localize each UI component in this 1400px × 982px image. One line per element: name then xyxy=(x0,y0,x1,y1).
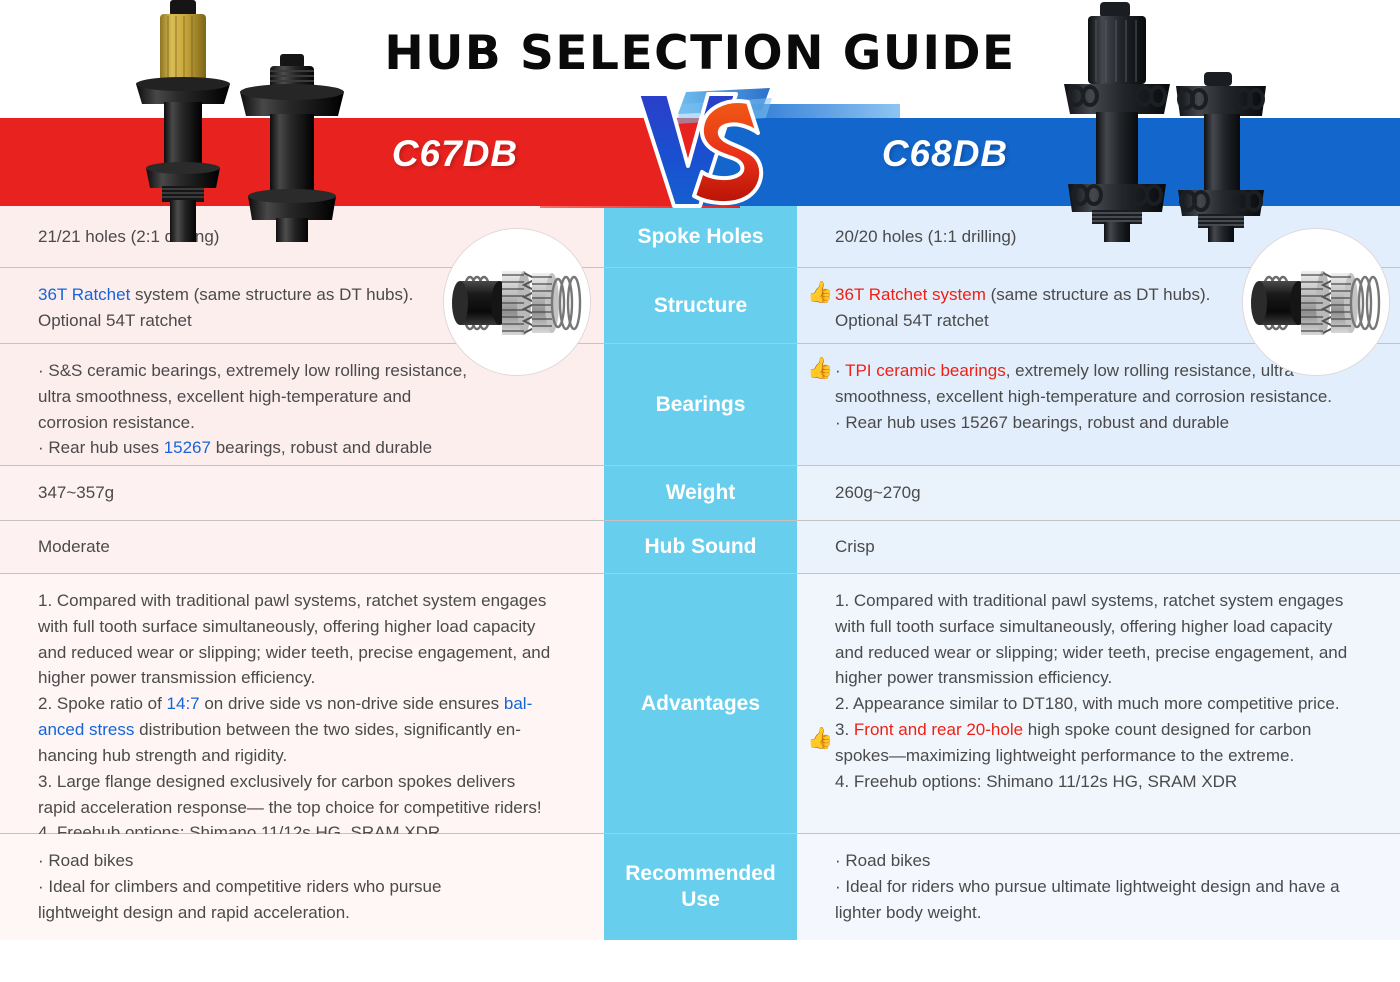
left-cell-text: · Road bikes · Ideal for climbers and co… xyxy=(38,848,582,925)
ratchet-exploded-view-icon-right xyxy=(1242,228,1390,376)
plain-text: bearings, robust and durable xyxy=(211,438,432,457)
spec-label: Hub Sound xyxy=(604,521,797,573)
plain-text: 1. Compared with traditional pawl system… xyxy=(835,591,1347,739)
left-spec-cell: 347~357g xyxy=(0,466,604,520)
highlight-red: 36T Ratchet system xyxy=(835,285,986,304)
table-row: · S&S ceramic bearings, extremely low ro… xyxy=(0,344,1400,466)
ratchet-exploded-view-icon-left xyxy=(443,228,591,376)
right-cell-text: Crisp xyxy=(835,534,875,560)
table-row: 36T Ratchet system (same structure as DT… xyxy=(0,268,1400,344)
left-cell-text: 347~357g xyxy=(38,480,114,506)
table-row: 347~357gWeight260g~270g xyxy=(0,466,1400,521)
highlight-blue: 14:7 xyxy=(167,694,200,713)
page-title: HUB SELECTION GUIDE xyxy=(0,26,1400,81)
highlight-red: TPI ceramic bearings xyxy=(845,361,1006,380)
highlight-red: Front and rear 20-hole xyxy=(854,720,1023,739)
thumbs-up-icon: 👍 xyxy=(807,280,833,306)
plain-text: on drive side vs non-drive side ensures xyxy=(200,694,504,713)
spec-label: Structure xyxy=(604,268,797,343)
vs-logo-icon xyxy=(620,88,800,216)
left-spec-cell: 1. Compared with traditional pawl system… xyxy=(0,574,604,833)
model-name-right: C68DB xyxy=(820,133,1070,175)
right-spec-cell: 260g~270g xyxy=(797,466,1400,520)
right-cell-text: 1. Compared with traditional pawl system… xyxy=(835,588,1382,795)
table-row: 1. Compared with traditional pawl system… xyxy=(0,574,1400,834)
left-cell-text: 1. Compared with traditional pawl system… xyxy=(38,588,582,846)
right-cell-text: 20/20 holes (1:1 drilling) xyxy=(835,224,1016,250)
left-spec-cell: Moderate xyxy=(0,521,604,573)
spec-label: Advantages xyxy=(604,574,797,833)
right-spec-cell: · Road bikes · Ideal for riders who purs… xyxy=(797,834,1400,940)
right-spec-cell: Crisp xyxy=(797,521,1400,573)
left-cell-text: Moderate xyxy=(38,534,110,560)
table-row: ModerateHub SoundCrisp xyxy=(0,521,1400,574)
plain-text: · xyxy=(835,361,845,380)
spec-label: Weight xyxy=(604,466,797,520)
comparison-table: 21/21 holes (2:1 drilling)Spoke Holes20/… xyxy=(0,206,1400,982)
thumbs-up-icon: 👍 xyxy=(807,726,833,752)
hub-comparison-infographic: HUB SELECTION GUIDE C67DB C68DB xyxy=(0,0,1400,982)
thumbs-up-icon: 👍 xyxy=(807,356,833,382)
table-row: · Road bikes · Ideal for climbers and co… xyxy=(0,834,1400,940)
highlight-blue: 36T Ratchet xyxy=(38,285,130,304)
left-spec-cell: · Road bikes · Ideal for climbers and co… xyxy=(0,834,604,940)
right-cell-text: 260g~270g xyxy=(835,480,921,506)
spec-label: Recommended Use xyxy=(604,834,797,940)
spec-label: Bearings xyxy=(604,344,797,465)
right-spec-cell: 👍1. Compared with traditional pawl syste… xyxy=(797,574,1400,833)
right-cell-text: · Road bikes · Ideal for riders who purs… xyxy=(835,848,1382,925)
highlight-blue: 15267 xyxy=(164,438,211,457)
